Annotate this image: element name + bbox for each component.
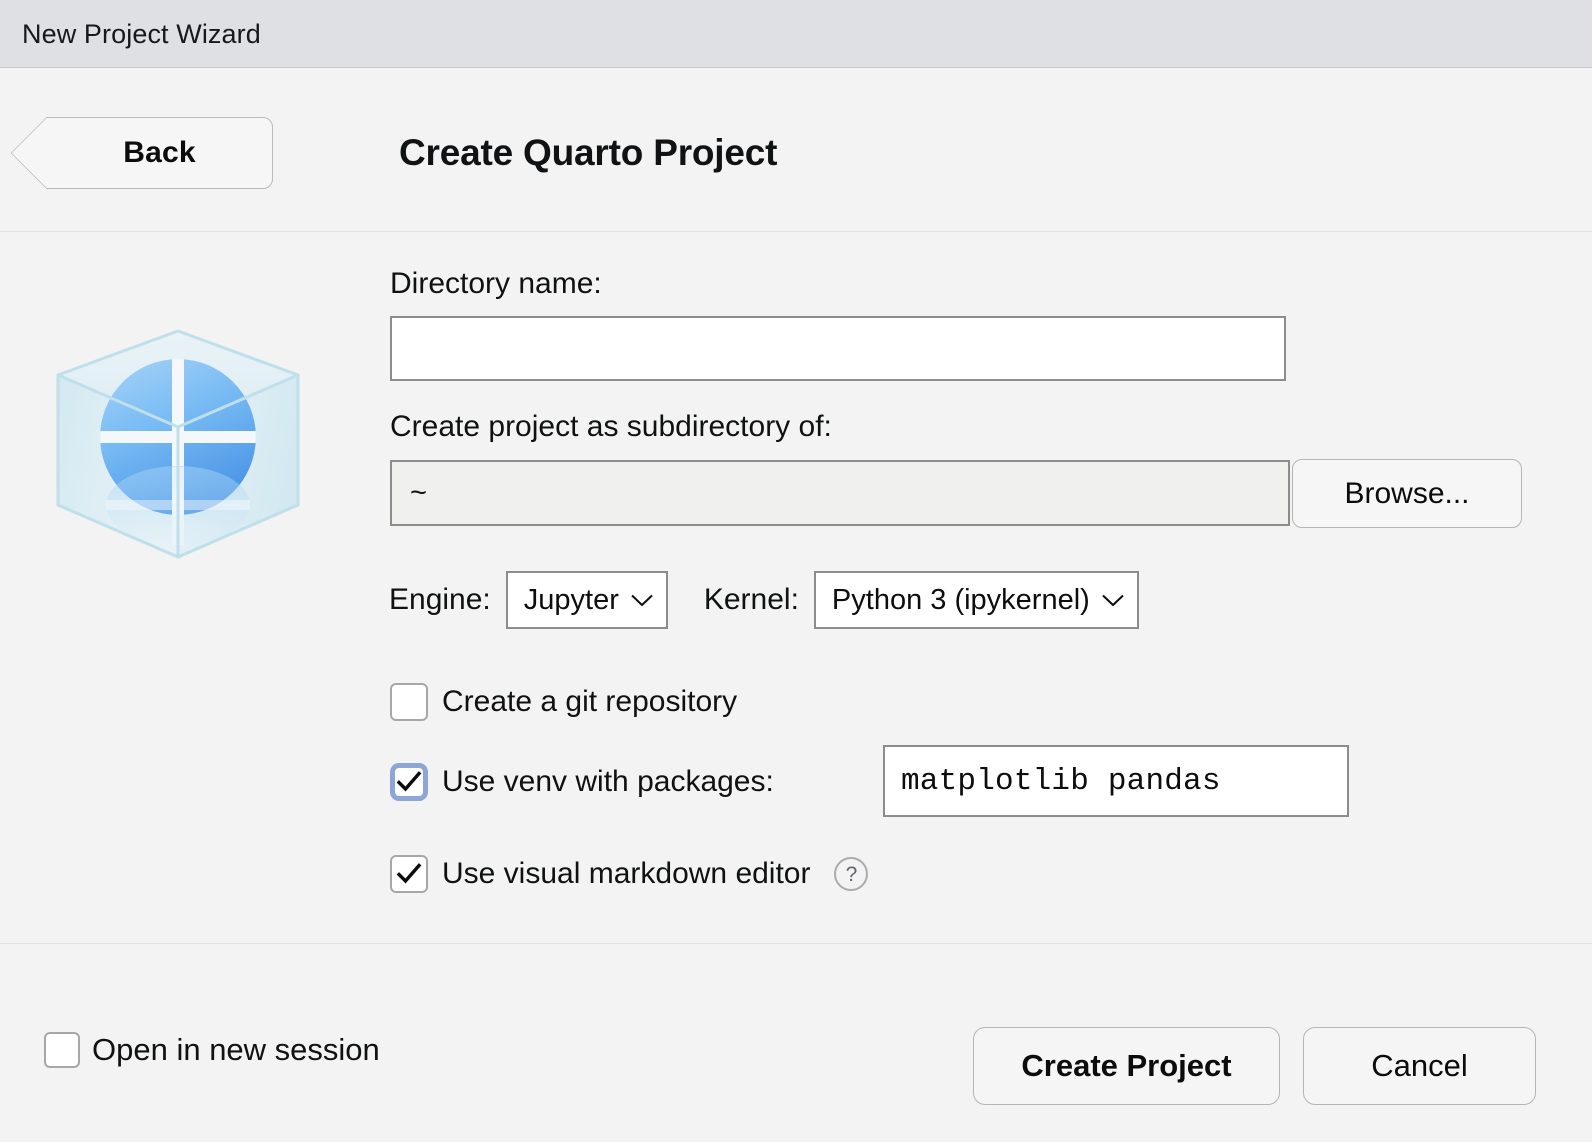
engine-label: Engine:: [389, 583, 491, 617]
chevron-down-icon: [631, 594, 653, 607]
subdirectory-input[interactable]: [390, 460, 1290, 526]
subdirectory-label: Create project as subdirectory of:: [390, 409, 832, 445]
window-titlebar: New Project Wizard: [0, 0, 1592, 68]
wizard-header: Back Create Quarto Project: [0, 69, 1592, 232]
visual-markdown-editor-checkbox[interactable]: [390, 855, 428, 893]
browse-button[interactable]: Browse...: [1292, 459, 1522, 528]
quarto-logo-icon: [46, 319, 311, 569]
wizard-footer: Open in new session Create Project Cance…: [0, 943, 1592, 1142]
kernel-select[interactable]: Python 3 (ipykernel): [814, 571, 1139, 629]
directory-name-label: Directory name:: [390, 266, 602, 302]
git-repository-row[interactable]: Create a git repository: [390, 683, 737, 721]
cancel-button[interactable]: Cancel: [1303, 1027, 1536, 1105]
engine-select[interactable]: Jupyter: [506, 571, 668, 629]
page-title: Create Quarto Project: [399, 123, 777, 183]
venv-label: Use venv with packages:: [442, 765, 774, 799]
window-title: New Project Wizard: [22, 18, 261, 50]
chevron-down-icon: [1102, 594, 1124, 607]
back-button-label: Back: [47, 136, 272, 170]
engine-kernel-row: Engine: Jupyter Kernel: Python 3 (ipyker…: [389, 571, 1139, 629]
git-repository-label: Create a git repository: [442, 685, 737, 719]
open-in-new-session-label: Open in new session: [92, 1032, 380, 1068]
kernel-label: Kernel:: [704, 583, 799, 617]
venv-packages-input[interactable]: [883, 745, 1349, 817]
checkmark-icon: [395, 768, 423, 796]
venv-checkbox[interactable]: [390, 763, 428, 801]
project-form: Directory name: Create project as subdir…: [389, 233, 1549, 942]
venv-row[interactable]: Use venv with packages:: [390, 763, 774, 801]
open-in-new-session-row[interactable]: Open in new session: [44, 1032, 380, 1068]
checkmark-icon: [395, 860, 423, 888]
back-button[interactable]: Back: [47, 117, 273, 189]
visual-markdown-editor-label: Use visual markdown editor: [442, 857, 810, 891]
wizard-body: Directory name: Create project as subdir…: [0, 233, 1592, 942]
directory-name-input[interactable]: [390, 316, 1286, 381]
engine-select-value: Jupyter: [524, 584, 619, 617]
open-in-new-session-checkbox[interactable]: [44, 1032, 80, 1068]
create-project-button[interactable]: Create Project: [973, 1027, 1280, 1105]
kernel-select-value: Python 3 (ipykernel): [832, 584, 1090, 617]
visual-markdown-editor-row[interactable]: Use visual markdown editor ?: [390, 855, 868, 893]
git-repository-checkbox[interactable]: [390, 683, 428, 721]
help-icon[interactable]: ?: [834, 857, 868, 891]
